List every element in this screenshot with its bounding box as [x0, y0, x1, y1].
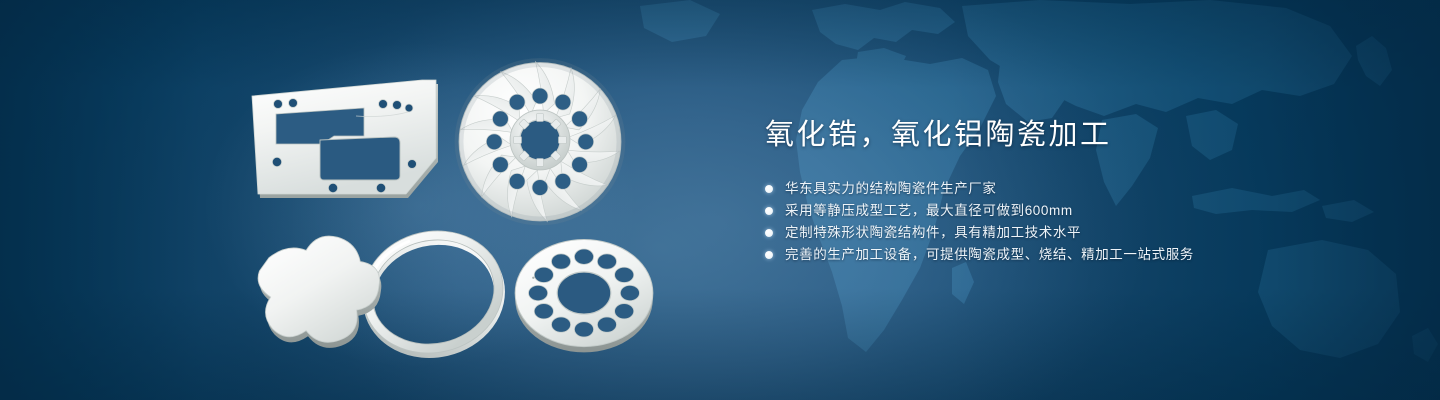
ceramic-product-banner: 氧化锆，氧化铝陶瓷加工 华东具实力的结构陶瓷件生产厂家 采用等静压成型工艺，最大… — [0, 0, 1440, 400]
banner-headline: 氧化锆，氧化铝陶瓷加工 — [765, 120, 1440, 152]
star-shaped-ceramic-plate — [252, 228, 392, 354]
rectangular-ceramic-plate — [248, 78, 444, 204]
feature-list-item: 定制特殊形状陶瓷结构件，具有精加工技术水平 — [765, 222, 1440, 244]
bullet-dot-icon — [765, 251, 773, 259]
feature-list: 华东具实力的结构陶瓷件生产厂家 采用等静压成型工艺，最大直径可做到600mm 定… — [765, 178, 1440, 266]
bullet-dot-icon — [765, 207, 773, 215]
perforated-ceramic-disc — [512, 228, 656, 360]
bullet-dot-icon — [765, 185, 773, 193]
feature-list-item: 采用等静压成型工艺，最大直径可做到600mm — [765, 200, 1440, 222]
feature-text: 定制特殊形状陶瓷结构件，具有精加工技术水平 — [785, 222, 1081, 244]
feature-text: 完善的生产加工设备，可提供陶瓷成型、烧结、精加工一站式服务 — [785, 244, 1194, 266]
ceramic-impeller — [452, 52, 628, 228]
feature-text: 采用等静压成型工艺，最大直径可做到600mm — [785, 200, 1073, 222]
banner-content: 氧化锆，氧化铝陶瓷加工 华东具实力的结构陶瓷件生产厂家 采用等静压成型工艺，最大… — [0, 0, 1440, 400]
feature-list-item: 华东具实力的结构陶瓷件生产厂家 — [765, 178, 1440, 200]
feature-text: 华东具实力的结构陶瓷件生产厂家 — [785, 178, 997, 200]
banner-text-column: 氧化锆，氧化铝陶瓷加工 华东具实力的结构陶瓷件生产厂家 采用等静压成型工艺，最大… — [760, 120, 1440, 280]
feature-list-item: 完善的生产加工设备，可提供陶瓷成型、烧结、精加工一站式服务 — [765, 244, 1440, 266]
product-image-group — [0, 0, 760, 400]
bullet-dot-icon — [765, 229, 773, 237]
